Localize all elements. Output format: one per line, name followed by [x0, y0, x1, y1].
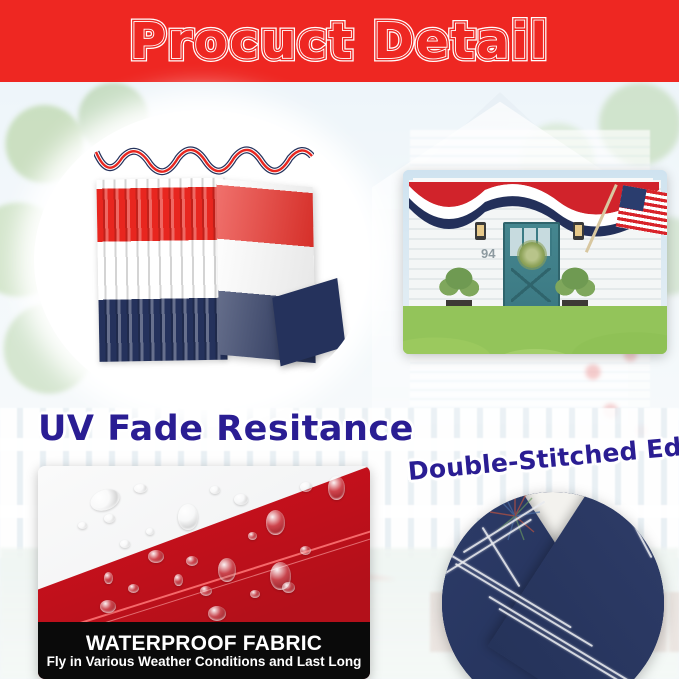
porch-house-number: 94 [481, 246, 495, 261]
waterproof-caption-subtitle: Fly in Various Weather Conditions and La… [47, 655, 362, 669]
porch-lamp-left [475, 222, 486, 240]
porch-front-door [503, 222, 560, 308]
page-title: Procuct Detail Procuct Detail Procuct De… [130, 17, 549, 66]
label-uv-fade-resistance: UV Fade Resitance [38, 412, 414, 447]
porch-door-wreath [519, 242, 545, 268]
porch-lamp-right [573, 222, 584, 240]
stitched-edge-photo [442, 492, 664, 679]
bunting-pleated-section [96, 178, 227, 362]
waterproof-caption-banner: WATERPROOF FABRIC Fly in Various Weather… [38, 622, 370, 679]
product-detail-page: Procuct Detail Procuct Detail Procuct De… [0, 0, 679, 679]
product-closeup-image [34, 110, 370, 410]
bunting-fabric [96, 176, 309, 365]
porch-photo: 94 [403, 170, 667, 354]
product-closeup-oval [34, 110, 370, 410]
porch-shrubbery [403, 306, 667, 354]
waterproof-caption-title: WATERPROOF FABRIC [86, 633, 322, 654]
page-title-text: Procuct Detail [130, 17, 549, 66]
waterproof-fabric-photo: WATERPROOF FABRIC Fly in Various Weather… [38, 466, 370, 679]
porch-door-cross-brace [511, 268, 551, 302]
flag-canton [619, 185, 646, 211]
header-banner: Procuct Detail Procuct Detail Procuct De… [0, 0, 679, 82]
